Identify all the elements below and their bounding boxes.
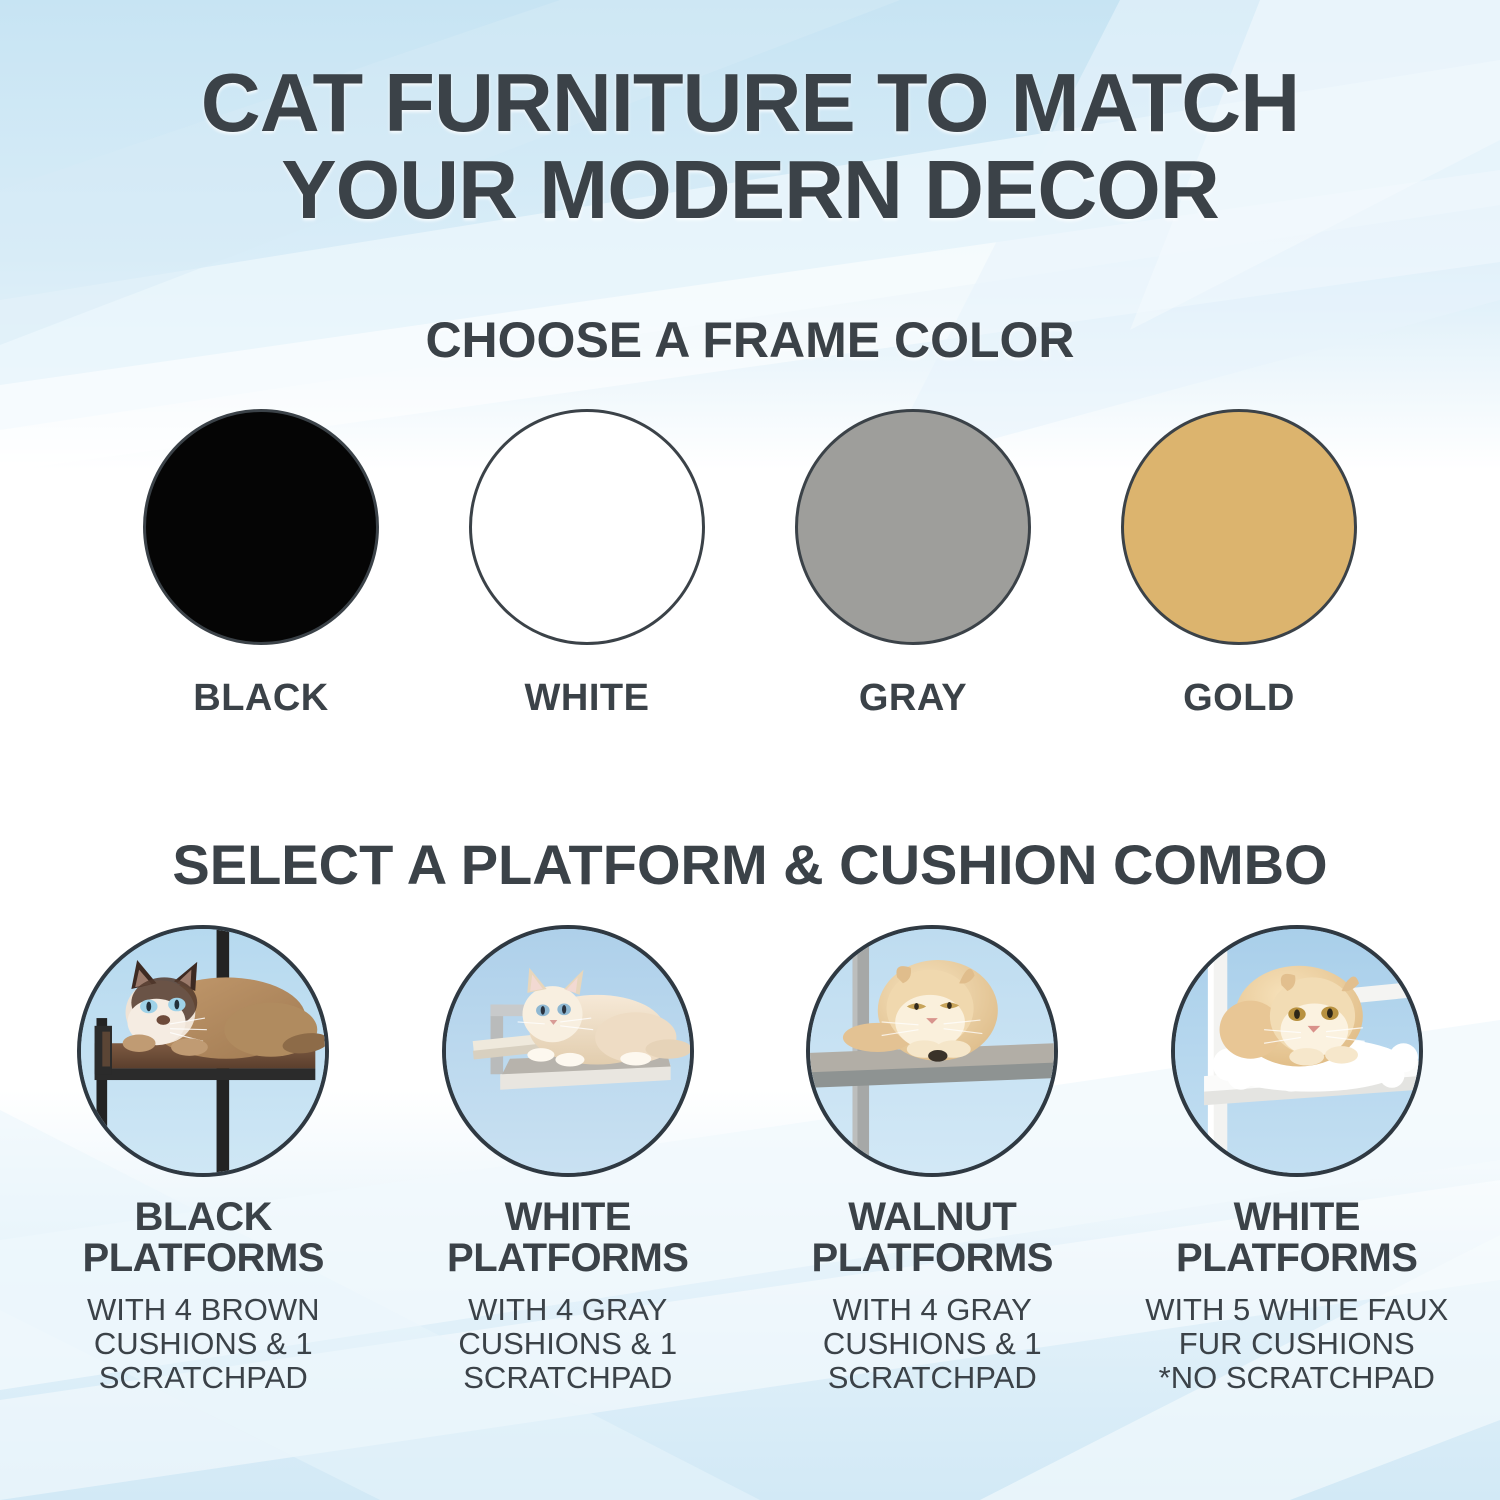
- photo-white-platforms-faux-fur[interactable]: [1171, 925, 1423, 1177]
- frame-swatch-label: GOLD: [1183, 677, 1295, 720]
- color-circle-white[interactable]: [469, 409, 705, 645]
- platform-combo-row: BLACK PLATFORMS WITH 4 BROWN CUSHIONS & …: [30, 925, 1470, 1396]
- combo-name-line-2: PLATFORMS: [447, 1238, 688, 1279]
- combo-option-name: WALNUT PLATFORMS: [812, 1197, 1053, 1279]
- combo-desc-line-2: FUR CUSHIONS: [1145, 1327, 1448, 1361]
- color-circle-gray[interactable]: [795, 409, 1031, 645]
- combo-option-description: WITH 4 GRAY CUSHIONS & 1 SCRATCHPAD: [823, 1293, 1042, 1395]
- combo-option-black-platforms[interactable]: BLACK PLATFORMS WITH 4 BROWN CUSHIONS & …: [30, 925, 377, 1396]
- combo-name-line-2: PLATFORMS: [812, 1238, 1053, 1279]
- combo-desc-line-1: WITH 4 GRAY: [823, 1293, 1042, 1327]
- combo-option-description: WITH 5 WHITE FAUX FUR CUSHIONS *NO SCRAT…: [1145, 1293, 1448, 1395]
- combo-option-walnut-platforms[interactable]: WALNUT PLATFORMS WITH 4 GRAY CUSHIONS & …: [759, 925, 1106, 1396]
- combo-option-white-platforms-faux-fur[interactable]: WHITE PLATFORMS WITH 5 WHITE FAUX FUR CU…: [1124, 925, 1471, 1396]
- frame-color-section-title: CHOOSE A FRAME COLOR: [425, 311, 1074, 369]
- frame-swatch-white[interactable]: WHITE: [467, 409, 707, 720]
- combo-desc-line-2: CUSHIONS & 1: [458, 1327, 677, 1361]
- combo-desc-line-3: *NO SCRATCHPAD: [1145, 1361, 1448, 1395]
- combo-option-name: WHITE PLATFORMS: [1176, 1197, 1417, 1279]
- frame-swatch-label: BLACK: [193, 677, 328, 720]
- combo-desc-line-2: CUSHIONS & 1: [87, 1327, 320, 1361]
- frame-swatch-gray[interactable]: GRAY: [793, 409, 1033, 720]
- page-title: CAT FURNITURE TO MATCH YOUR MODERN DECOR: [80, 62, 1420, 231]
- headline-line-2: YOUR MODERN DECOR: [80, 149, 1420, 230]
- scottish-fold-cat-on-faux-fur-illustration: [1175, 929, 1419, 1173]
- photo-black-platforms[interactable]: [77, 925, 329, 1177]
- combo-option-description: WITH 4 GRAY CUSHIONS & 1 SCRATCHPAD: [458, 1293, 677, 1395]
- combo-desc-line-3: SCRATCHPAD: [87, 1361, 320, 1395]
- combo-option-name: BLACK PLATFORMS: [83, 1197, 324, 1279]
- combo-option-white-platforms-gray[interactable]: WHITE PLATFORMS WITH 4 GRAY CUSHIONS & 1…: [395, 925, 742, 1396]
- poster-content: CAT FURNITURE TO MATCH YOUR MODERN DECOR…: [0, 0, 1500, 1500]
- combo-desc-line-1: WITH 4 BROWN: [87, 1293, 320, 1327]
- combo-desc-line-3: SCRATCHPAD: [458, 1361, 677, 1395]
- platform-cushion-section: SELECT A PLATFORM & CUSHION COMBO: [30, 832, 1470, 1396]
- frame-color-swatch-row: BLACK WHITE GRAY GOLD: [141, 409, 1359, 720]
- headline-line-1: CAT FURNITURE TO MATCH: [80, 62, 1420, 143]
- combo-name-line-1: WHITE: [1176, 1197, 1417, 1238]
- frame-swatch-label: WHITE: [525, 677, 650, 720]
- color-circle-gold[interactable]: [1121, 409, 1357, 645]
- combo-option-name: WHITE PLATFORMS: [447, 1197, 688, 1279]
- infographic-poster: CAT FURNITURE TO MATCH YOUR MODERN DECOR…: [0, 0, 1500, 1500]
- combo-desc-line-1: WITH 4 GRAY: [458, 1293, 677, 1327]
- combo-desc-line-1: WITH 5 WHITE FAUX: [1145, 1293, 1448, 1327]
- combo-name-line-1: WHITE: [447, 1197, 688, 1238]
- frame-swatch-label: GRAY: [859, 677, 967, 720]
- combo-desc-line-3: SCRATCHPAD: [823, 1361, 1042, 1395]
- color-circle-black[interactable]: [143, 409, 379, 645]
- combo-name-line-1: WALNUT: [812, 1197, 1053, 1238]
- combo-option-description: WITH 4 BROWN CUSHIONS & 1 SCRATCHPAD: [87, 1293, 320, 1395]
- frame-swatch-gold[interactable]: GOLD: [1119, 409, 1359, 720]
- combo-name-line-1: BLACK: [83, 1197, 324, 1238]
- photo-walnut-platforms[interactable]: [806, 925, 1058, 1177]
- siamese-cat-on-black-frame-illustration: [81, 929, 325, 1173]
- golden-cat-on-walnut-shelf-illustration: [810, 929, 1054, 1173]
- cream-cat-on-white-frame-illustration: [446, 929, 690, 1173]
- combo-name-line-2: PLATFORMS: [83, 1238, 324, 1279]
- combo-name-line-2: PLATFORMS: [1176, 1238, 1417, 1279]
- platform-combo-section-title: SELECT A PLATFORM & CUSHION COMBO: [172, 832, 1327, 897]
- photo-white-platforms-gray[interactable]: [442, 925, 694, 1177]
- frame-swatch-black[interactable]: BLACK: [141, 409, 381, 720]
- combo-desc-line-2: CUSHIONS & 1: [823, 1327, 1042, 1361]
